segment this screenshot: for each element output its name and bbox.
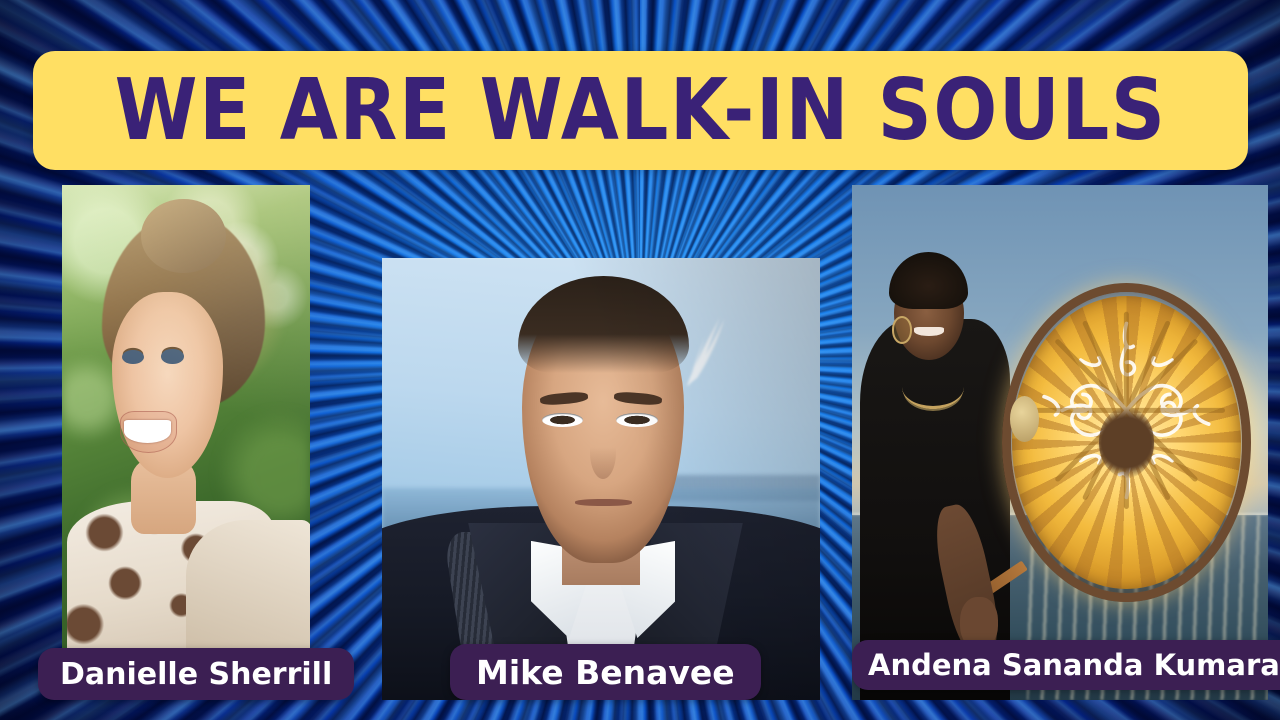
hoop-earring: [892, 316, 913, 344]
name-label-danielle-sherrill: Danielle Sherrill: [38, 648, 354, 700]
photo-card-mike-benavee: [382, 258, 820, 700]
page-title: WE ARE WALK-IN SOULS: [115, 68, 1167, 153]
photo-danielle-sherrill: [62, 185, 310, 650]
title-banner: WE ARE WALK-IN SOULS: [33, 51, 1248, 170]
photo-card-andena-sananda-kumara: [852, 185, 1268, 700]
photo-mike-benavee: [382, 258, 820, 700]
name-label-andena-sananda-kumara: Andena Sananda Kumara: [852, 640, 1280, 690]
thumbnail-canvas: WE ARE WALK-IN SOULS: [0, 0, 1280, 720]
drum-wooden-rim: [1002, 283, 1252, 602]
name-label-mike-benavee: Mike Benavee: [450, 644, 761, 700]
smile: [914, 327, 943, 336]
photo-card-danielle-sherrill: [62, 185, 310, 650]
photo-andena-sananda-kumara: [852, 185, 1268, 700]
shadow-overlay: [382, 258, 820, 700]
sunlight-overlay: [62, 185, 310, 650]
